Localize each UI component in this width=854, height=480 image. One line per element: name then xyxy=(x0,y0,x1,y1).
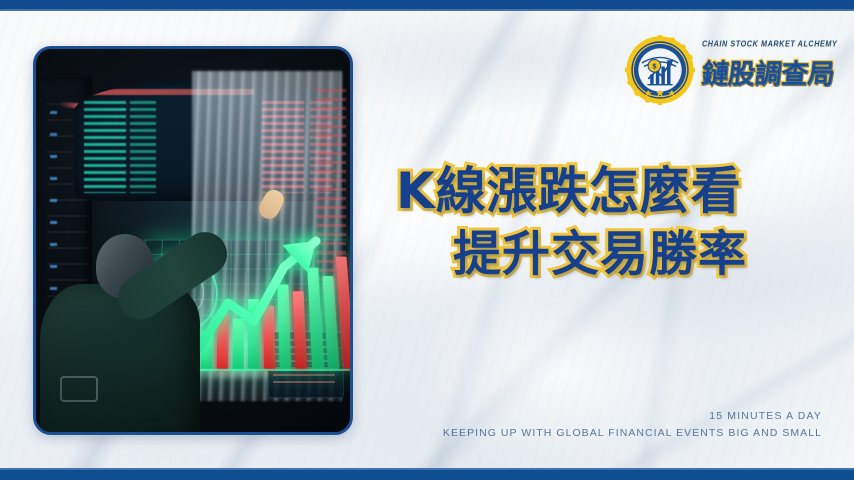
brand-logo[interactable]: $ CHAIN STOCK MARKET ALCHEMY 鏈股調查局 xyxy=(620,33,832,107)
poster-canvas: $ CHAIN STOCK MARKET ALCHEMY 鏈股調查局 K線漲跌怎… xyxy=(0,0,854,480)
logo-text: CHAIN STOCK MARKET ALCHEMY 鏈股調查局 xyxy=(702,39,830,91)
photo-vignette xyxy=(36,49,350,432)
headline-line-1: K線漲跌怎麼看 xyxy=(396,164,830,218)
headline: K線漲跌怎麼看 提升交易勝率 xyxy=(396,164,830,282)
logo-english-name: CHAIN STOCK MARKET ALCHEMY xyxy=(702,38,830,48)
logo-chinese-name: 鏈股調查局 xyxy=(700,52,832,91)
emblem-icon: $ xyxy=(625,35,695,105)
bottom-blue-bar xyxy=(0,468,854,480)
tagline: 15 MINUTES A DAY KEEPING UP WITH GLOBAL … xyxy=(443,410,822,439)
headline-line-2: 提升交易勝率 xyxy=(396,228,830,282)
tagline-line-2: KEEPING UP WITH GLOBAL FINANCIAL EVENTS … xyxy=(443,427,822,439)
top-blue-bar xyxy=(0,0,854,11)
svg-text:$: $ xyxy=(652,63,657,71)
tagline-line-1: 15 MINUTES A DAY xyxy=(443,410,822,422)
hero-image-card xyxy=(33,46,353,435)
hero-image xyxy=(36,49,350,432)
